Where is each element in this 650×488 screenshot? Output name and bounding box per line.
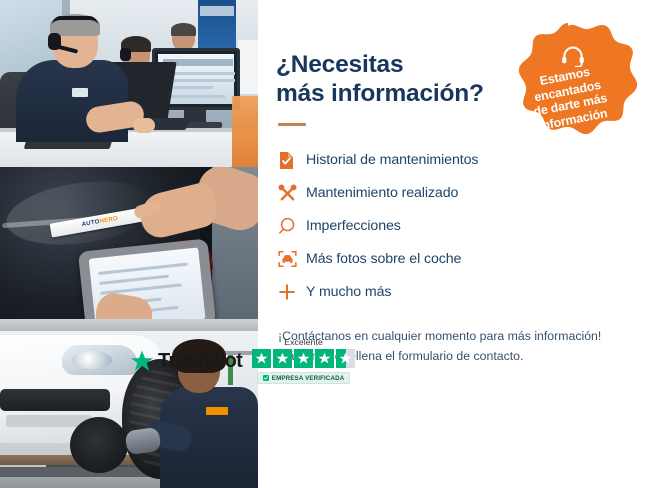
star-filled (273, 349, 292, 368)
photo-collage: AUTOHERO (0, 0, 258, 488)
trustpilot-widget[interactable]: Trustpilot Excelente EMPRESA VERIFICADA (130, 337, 355, 384)
list-item: Más fotos sobre el coche (278, 243, 650, 276)
verified-label: EMPRESA VERIFICADA (272, 375, 345, 382)
list-item: Mantenimiento realizado (278, 177, 650, 210)
status-badge: EMPRESA VERIFICADA (257, 372, 351, 384)
feature-label: Y mucho más (306, 284, 391, 300)
list-item: Imperfecciones (278, 210, 650, 243)
star-rating (252, 349, 355, 368)
document-check-icon (278, 151, 306, 170)
status-badge: Estamos encantados de darte más informac… (499, 23, 637, 165)
plus-icon (278, 283, 306, 301)
rating-label: Excelente (284, 337, 323, 347)
call-center-agents-photo (0, 0, 258, 167)
headline-line-1: ¿Necesitas (276, 51, 403, 78)
feature-label: Imperfecciones (306, 218, 401, 234)
feature-list: Historial de mantenimientos Mantenimient… (278, 144, 650, 309)
star-filled (315, 349, 334, 368)
trustpilot-rating: Excelente EMPRESA VERIFICADA (252, 337, 355, 384)
tools-icon (278, 184, 306, 203)
trustpilot-logo: Trustpilot (130, 350, 242, 373)
star-filled (294, 349, 313, 368)
vehicle-inspection-photo: AUTOHERO (0, 167, 258, 331)
car-photo-icon (278, 250, 306, 268)
magnifier-icon (278, 217, 306, 235)
ruler-brand-part1: AUTO (81, 219, 100, 228)
check-icon (263, 375, 269, 381)
star-half (336, 349, 355, 368)
feature-label: Más fotos sobre el coche (306, 251, 461, 267)
accent-divider (278, 123, 306, 126)
star-filled (252, 349, 271, 368)
headset-icon (561, 45, 585, 67)
trustpilot-brand-name: Trustpilot (158, 350, 242, 373)
feature-label: Mantenimiento realizado (306, 185, 458, 201)
trustpilot-star-icon (130, 350, 154, 373)
list-item: Y mucho más (278, 276, 650, 309)
promo-card: AUTOHERO (0, 0, 650, 488)
feature-label: Historial de mantenimientos (306, 152, 478, 168)
ruler-brand-part2: HERO (99, 216, 118, 225)
